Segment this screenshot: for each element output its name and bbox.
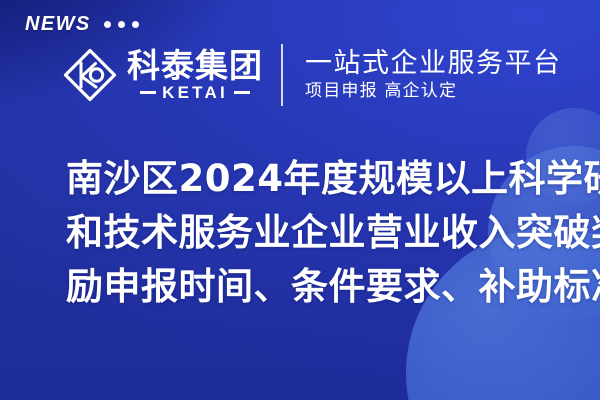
dot-icon bbox=[132, 21, 139, 28]
news-banner: NEWS 科泰集团 KETAI bbox=[0, 0, 600, 400]
brand-name-en-row: KETAI bbox=[127, 84, 263, 101]
brand-wordmark: 科泰集团 KETAI bbox=[127, 49, 263, 102]
brand-name-en: KETAI bbox=[162, 84, 228, 101]
vertical-divider bbox=[281, 44, 283, 106]
news-dots-icon bbox=[104, 21, 139, 28]
headline-line: 南沙区2024年度规模以上科学研究 bbox=[66, 152, 576, 206]
dot-icon bbox=[104, 21, 111, 28]
brand-name-cn: 科泰集团 bbox=[127, 49, 263, 83]
brand-lockup: 科泰集团 KETAI 一站式企业服务平台 项目申报 高企认定 bbox=[62, 40, 562, 110]
headline-line: 和技术服务业企业营业收入突破奖 bbox=[66, 206, 576, 260]
dot-icon bbox=[118, 21, 125, 28]
rule-right-decoration bbox=[234, 91, 250, 94]
news-eyebrow: NEWS bbox=[25, 11, 139, 37]
headline-block: 南沙区2024年度规模以上科学研究 和技术服务业企业营业收入突破奖 励申报时间、… bbox=[66, 152, 576, 314]
ketai-diamond-k-logo-icon bbox=[62, 47, 118, 103]
news-label: NEWS bbox=[25, 14, 91, 34]
tagline-sub: 项目申报 高企认定 bbox=[305, 82, 562, 101]
rule-left-decoration bbox=[140, 91, 156, 94]
headline-line: 励申报时间、条件要求、补助标准 bbox=[66, 260, 576, 314]
tagline-block: 一站式企业服务平台 项目申报 高企认定 bbox=[305, 49, 562, 100]
tagline-main: 一站式企业服务平台 bbox=[305, 49, 562, 79]
